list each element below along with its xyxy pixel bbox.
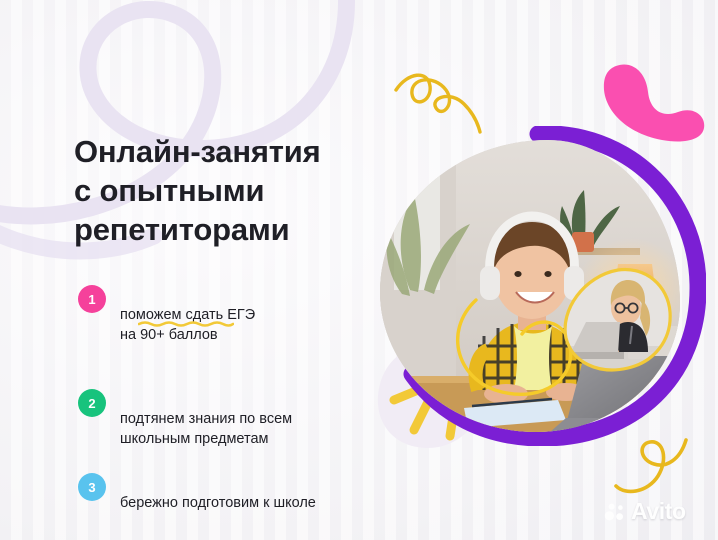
bullet-number-badge: 1	[78, 285, 106, 313]
tutor-photo-illustration	[560, 260, 676, 378]
pink-crescent-decoration	[598, 58, 710, 142]
list-item-label: подтянем знания по всем школьным предмет…	[120, 388, 292, 450]
hero-photo	[366, 126, 706, 446]
avito-watermark: Avito	[604, 498, 686, 525]
student-photo	[380, 140, 680, 432]
list-item-label: бережно подготовим к школе	[120, 472, 316, 513]
list-item: 3 бережно подготовим к школе	[78, 472, 388, 513]
avito-watermark-label: Avito	[631, 498, 686, 525]
list-item: 1 поможем сдать ЕГЭ на 90+ баллов	[78, 284, 388, 366]
avito-dots-logo-icon	[604, 501, 626, 523]
list-item-label: поможем сдать ЕГЭ на 90+ баллов	[120, 284, 255, 366]
list-item-text: поможем сдать ЕГЭ на 90+ баллов	[120, 307, 255, 344]
list-item-text: подтянем знания по всем школьным предмет…	[120, 411, 292, 448]
list-item-text: бережно подготовим к школе	[120, 495, 316, 511]
benefits-list: 1 поможем сдать ЕГЭ на 90+ баллов 2 подт…	[78, 284, 388, 513]
advertisement-banner: Онлайн-занятия с опытными репетиторами 1…	[0, 0, 718, 540]
tutor-inset-photo	[380, 140, 680, 432]
list-item: 2 подтянем знания по всем школьным предм…	[78, 388, 388, 450]
bullet-number-badge: 2	[78, 389, 106, 417]
page-title: Онлайн-занятия с опытными репетиторами	[74, 132, 374, 249]
bullet-number-badge: 3	[78, 473, 106, 501]
yellow-squiggle-decoration	[394, 62, 486, 134]
